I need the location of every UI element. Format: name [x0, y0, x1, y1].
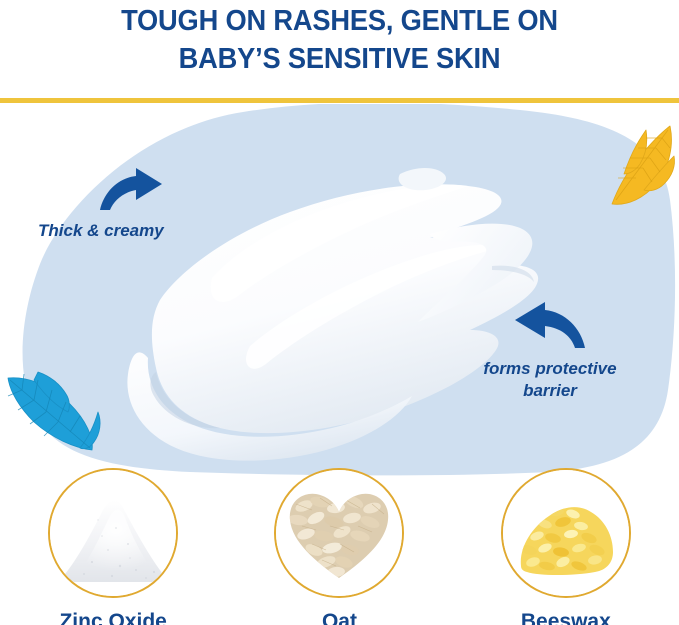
curved-arrow-up-right-icon	[96, 168, 164, 212]
headline-line-1: TOUGH ON RASHES, GENTLE ON	[20, 2, 658, 40]
gold-divider-rule	[0, 98, 679, 103]
callout-protective-barrier-label: forms protective barrier	[455, 358, 645, 402]
product-infographic: TOUGH ON RASHES, GENTLE ON BABY’S SENSIT…	[0, 0, 679, 625]
leaf-orange-icon	[596, 122, 678, 208]
beeswax-pellets-image	[501, 468, 631, 598]
callout-protective-barrier: forms protective barrier	[455, 302, 645, 402]
callout-thick-creamy: Thick & creamy	[38, 168, 164, 242]
ingredient-beeswax: Beeswax	[471, 468, 661, 625]
oat-flakes-heart-image	[274, 468, 404, 598]
curved-arrow-up-left-icon	[455, 302, 645, 350]
callout-thick-creamy-label: Thick & creamy	[38, 220, 164, 242]
ingredient-beeswax-label: Beeswax	[521, 610, 611, 625]
headline: TOUGH ON RASHES, GENTLE ON BABY’S SENSIT…	[20, 2, 658, 78]
leaf-blue-icon	[2, 368, 106, 454]
ingredient-oat: Oat	[244, 468, 434, 625]
ingredient-oat-label: Oat	[322, 610, 357, 625]
ingredient-zinc-oxide: Zinc Oxide	[18, 468, 208, 625]
zinc-oxide-powder-image	[48, 468, 178, 598]
ingredient-list: Zinc Oxide	[0, 468, 679, 625]
ingredient-zinc-oxide-label: Zinc Oxide	[59, 610, 166, 625]
headline-line-2: BABY’S SENSITIVE SKIN	[20, 40, 658, 78]
